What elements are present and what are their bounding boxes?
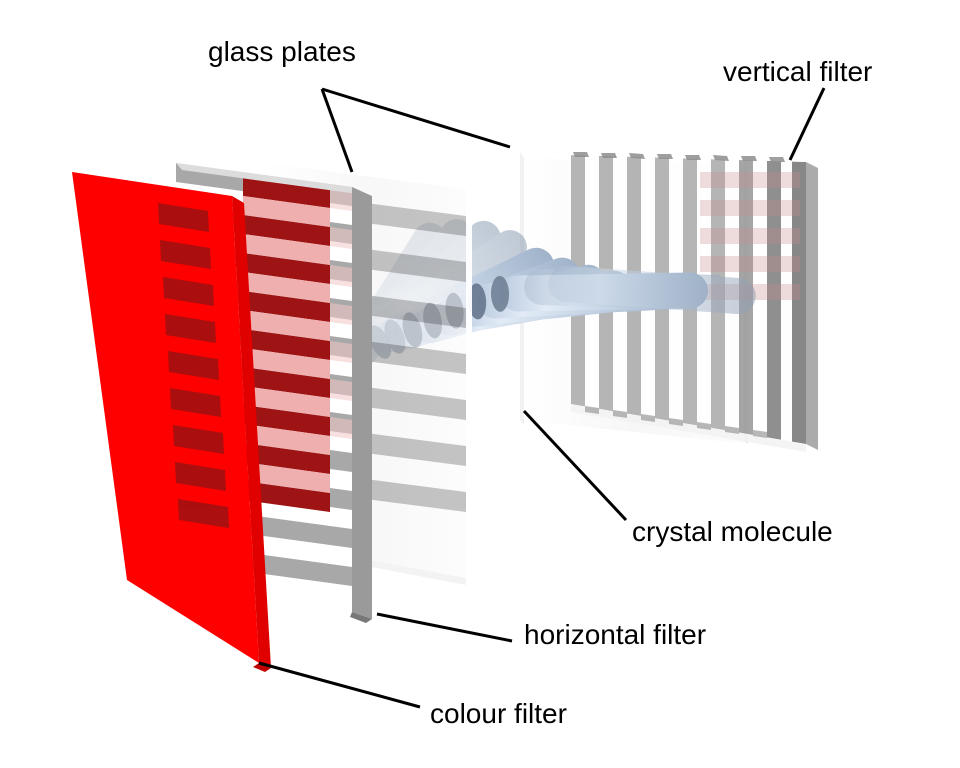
vertical-filter-side-face (806, 162, 818, 450)
label-vertical-filter: vertical filter (723, 58, 872, 86)
label-crystal-molecule: crystal molecule (632, 518, 833, 546)
lcd-diagram: glass plates vertical filter crystal mol… (0, 0, 960, 768)
label-horizontal-filter: horizontal filter (524, 621, 706, 649)
leader-line-horizontal-filter (377, 614, 512, 641)
leader-line-colour-filter (259, 663, 420, 707)
diagram-canvas (0, 0, 960, 768)
colour-filter-panel (72, 172, 271, 672)
label-colour-filter: colour filter (430, 700, 567, 728)
horizontal-filter-side-face (352, 187, 372, 619)
glass-plate-left-side-face (466, 183, 472, 585)
leader-line-glass-plates-left (322, 89, 352, 172)
leader-line-vertical-filter (790, 88, 824, 160)
leader-line-glass-plates-right (322, 89, 510, 147)
label-glass-plates: glass plates (208, 38, 356, 66)
